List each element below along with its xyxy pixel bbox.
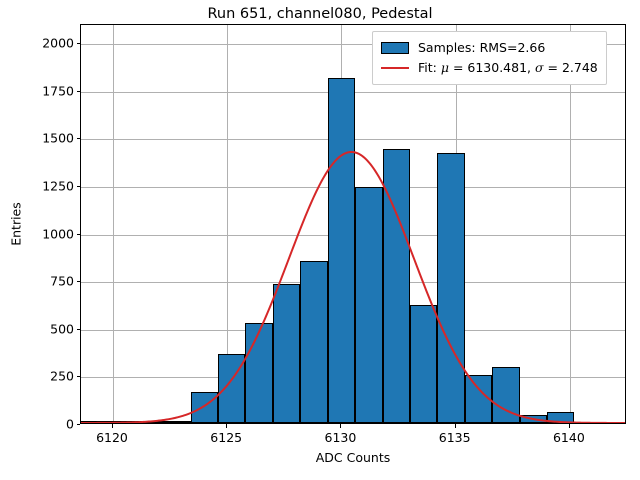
y-tick-mark [77,138,81,139]
x-tick-label: 6120 [96,430,128,445]
legend-fit-mu-symbol: μ [441,60,449,75]
legend-swatch-fit-icon [381,67,409,69]
x-tick-label: 6130 [325,430,357,445]
legend-fit-mu-value: = 6130.481, [449,60,535,75]
x-tick-mark [112,424,113,428]
y-tick-label: 750 [50,274,74,289]
legend-label-fit: Fit: μ = 6130.481, σ = 2.748 [418,62,598,75]
y-tick-label: 1000 [42,226,74,241]
legend-swatch-samples-icon [381,42,409,54]
y-tick-label: 2000 [42,36,74,51]
legend-fit-sigma-value: = 2.748 [544,60,598,75]
y-tick-label: 500 [50,321,74,336]
x-tick-mark [226,424,227,428]
x-tick-mark [569,424,570,428]
chart-legend: Samples: RMS=2.66 Fit: μ = 6130.481, σ =… [372,31,607,85]
y-tick-label: 1750 [42,83,74,98]
y-tick-mark [77,376,81,377]
y-tick-mark [77,91,81,92]
x-tick-label: 6125 [210,430,242,445]
x-axis-label: ADC Counts [80,450,626,465]
legend-item-samples: Samples: RMS=2.66 [381,38,598,58]
y-tick-mark [77,281,81,282]
x-tick-mark [340,424,341,428]
y-tick-mark [77,424,81,425]
y-tick-mark [77,329,81,330]
y-tick-label: 1250 [42,178,74,193]
y-axis-label: Entries [9,202,24,246]
chart-figure: Run 651, channel080, Pedestal 0250500750… [0,0,640,480]
y-tick-label: 0 [66,417,74,432]
legend-label-samples: Samples: RMS=2.66 [418,42,545,55]
y-tick-mark [77,234,81,235]
legend-fit-prefix: Fit: [418,60,441,75]
y-tick-label: 250 [50,369,74,384]
y-tick-mark [77,186,81,187]
x-tick-mark [455,424,456,428]
legend-item-fit: Fit: μ = 6130.481, σ = 2.748 [381,58,598,78]
y-tick-label: 1500 [42,131,74,146]
legend-fit-sigma-symbol: σ [535,60,544,75]
x-tick-label: 6135 [439,430,471,445]
chart-title: Run 651, channel080, Pedestal [0,6,640,22]
y-tick-mark [77,43,81,44]
x-tick-label: 6140 [553,430,585,445]
